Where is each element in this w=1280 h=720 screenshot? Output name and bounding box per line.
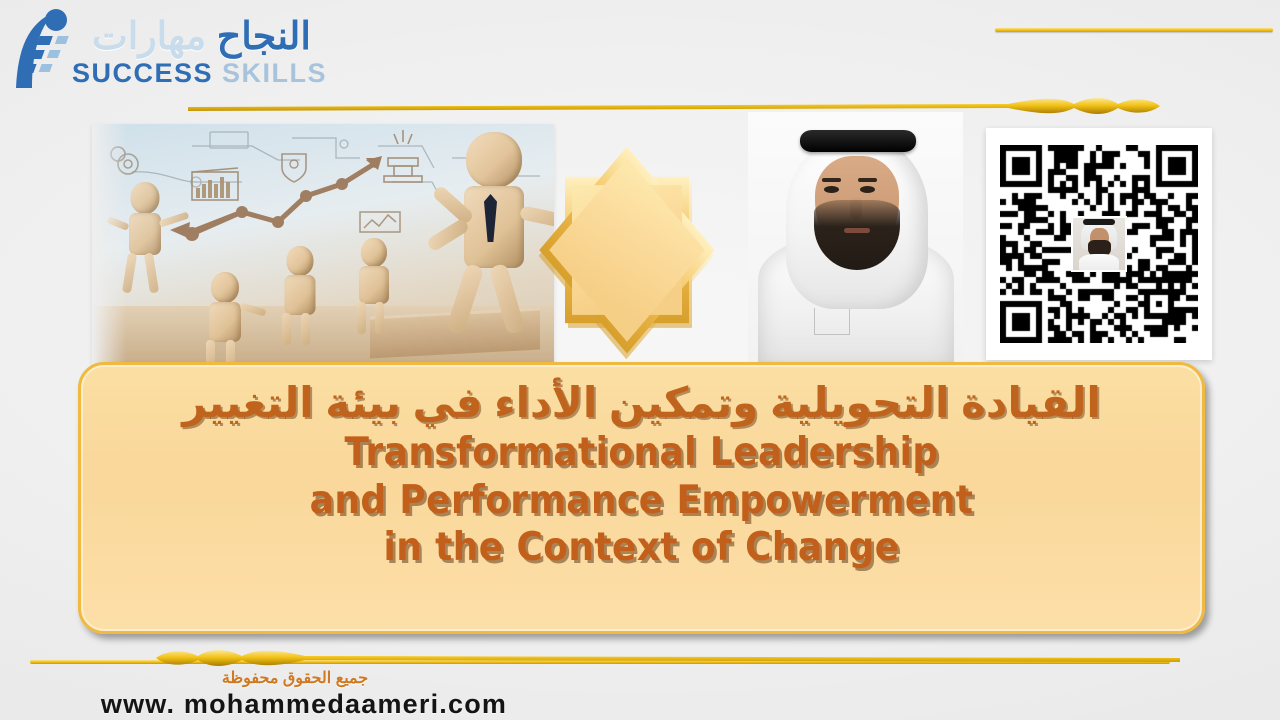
logo-arabic-dark: النجاح [217, 16, 311, 58]
title-english-line-2: and Performance Empowerment [150, 477, 1133, 525]
bar-chart-icon [192, 168, 238, 200]
growth-arrow-icon [170, 156, 382, 241]
brand-logo: النجاح مهارات SUCCESS SKILLS [14, 6, 264, 101]
mini-chart-icon [360, 212, 400, 232]
speaker-portrait [748, 112, 963, 364]
logo-english-word-1: SUCCESS [72, 58, 213, 88]
presentation-slide: النجاح مهارات SUCCESS SKILLS [0, 0, 1280, 720]
gold-swoosh-top [188, 95, 1178, 125]
wooden-figure [196, 272, 254, 364]
title-arabic: القيادة التحويلية وتمكين الأداء في بيئة … [107, 379, 1176, 427]
shield-icon [282, 154, 306, 182]
logo-arabic-name: النجاح مهارات [92, 14, 311, 59]
wooden-figure [347, 238, 401, 336]
gold-line-top-right [995, 28, 1273, 32]
title-english-line-1: Transformational Leadership [150, 429, 1133, 477]
website-url: www. mohammedaameri.com [0, 689, 1280, 720]
logo-english-word-2: SKILLS [222, 58, 327, 88]
qr-embedded-photo [1071, 216, 1127, 272]
logo-arabic-light: مهارات [92, 16, 206, 58]
title-panel: القيادة التحويلية وتمكين الأداء في بيئة … [78, 362, 1205, 634]
award-podium-icon [384, 130, 422, 182]
logo-english-name: SUCCESS SKILLS [72, 58, 327, 89]
qr-code[interactable] [986, 128, 1212, 360]
wooden-figures-leadership-illustration [92, 124, 554, 364]
title-english-line-3: in the Context of Change [150, 524, 1133, 572]
eight-pointed-star-badge [524, 126, 730, 374]
gold-swoosh-bottom [100, 648, 1180, 676]
wooden-figure [272, 246, 328, 346]
